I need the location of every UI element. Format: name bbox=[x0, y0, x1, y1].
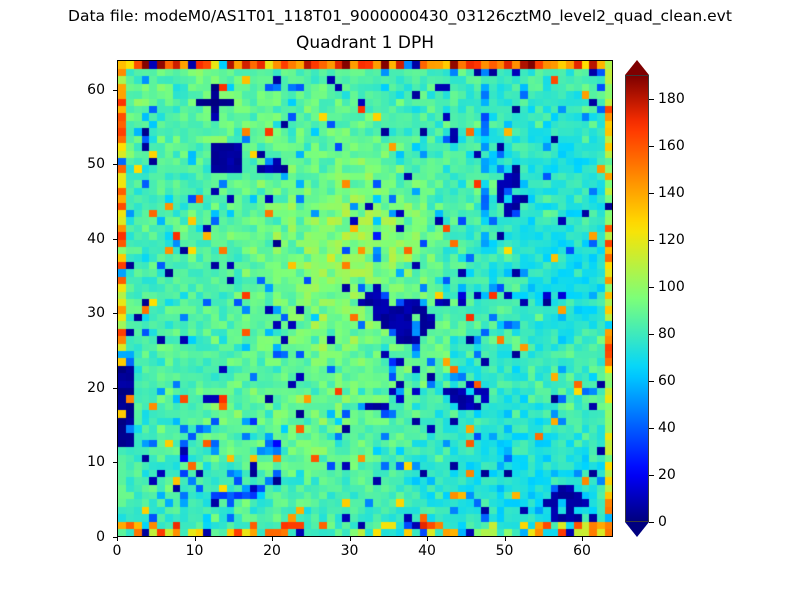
y-tick-mark bbox=[113, 462, 117, 463]
x-tick-label: 10 bbox=[175, 543, 215, 559]
x-tick-label: 60 bbox=[562, 543, 602, 559]
x-tick-mark bbox=[272, 537, 273, 541]
colorbar-tick-label: 40 bbox=[658, 420, 676, 436]
colorbar-tick-label: 80 bbox=[658, 326, 676, 342]
y-tick-mark bbox=[113, 313, 117, 314]
colorbar-tick-label: 20 bbox=[658, 467, 676, 483]
x-tick-label: 30 bbox=[330, 543, 370, 559]
y-tick-label: 40 bbox=[65, 231, 105, 247]
x-tick-label: 50 bbox=[485, 543, 525, 559]
colorbar-tick-mark bbox=[649, 522, 654, 523]
colorbar-tick-mark bbox=[649, 475, 654, 476]
colorbar-tick-label: 160 bbox=[658, 138, 685, 154]
x-tick-mark bbox=[505, 537, 506, 541]
colorbar: 020406080100120140160180 bbox=[625, 60, 649, 537]
colorbar-tick-label: 180 bbox=[658, 91, 685, 107]
colorbar-tick-mark bbox=[649, 193, 654, 194]
x-tick-mark bbox=[117, 537, 118, 541]
y-tick-label: 20 bbox=[65, 380, 105, 396]
page-title: Quadrant 1 DPH bbox=[117, 32, 613, 54]
y-tick-mark bbox=[113, 90, 117, 91]
figure-suptitle: Data file: modeM0/AS1T01_118T01_90000004… bbox=[0, 6, 800, 26]
y-tick-label: 60 bbox=[65, 82, 105, 98]
colorbar-tick-label: 120 bbox=[658, 232, 685, 248]
colorbar-tick-label: 100 bbox=[658, 279, 685, 295]
colorbar-tick-label: 0 bbox=[658, 514, 667, 530]
colorbar-extend-max-arrow-icon bbox=[625, 60, 649, 75]
colorbar-tick-mark bbox=[649, 334, 654, 335]
y-tick-mark bbox=[113, 388, 117, 389]
colorbar-extend-min-arrow-icon bbox=[625, 522, 649, 537]
colorbar-gradient bbox=[626, 76, 648, 521]
x-tick-mark bbox=[582, 537, 583, 541]
colorbar-tick-label: 140 bbox=[658, 185, 685, 201]
y-tick-mark bbox=[113, 537, 117, 538]
x-tick-label: 40 bbox=[407, 543, 447, 559]
colorbar-tick-mark bbox=[649, 240, 654, 241]
colorbar-tick-label: 60 bbox=[658, 373, 676, 389]
colorbar-tick-mark bbox=[649, 99, 654, 100]
colorbar-body bbox=[625, 75, 649, 522]
colorbar-tick-mark bbox=[649, 428, 654, 429]
y-tick-label: 30 bbox=[65, 305, 105, 321]
y-tick-label: 0 bbox=[65, 529, 105, 545]
x-tick-mark bbox=[195, 537, 196, 541]
y-tick-label: 50 bbox=[65, 156, 105, 172]
x-tick-mark bbox=[350, 537, 351, 541]
colorbar-tick-mark bbox=[649, 381, 654, 382]
heatmap-axes bbox=[117, 60, 613, 537]
colorbar-tick-mark bbox=[649, 287, 654, 288]
y-tick-mark bbox=[113, 239, 117, 240]
y-tick-mark bbox=[113, 164, 117, 165]
x-tick-label: 0 bbox=[97, 543, 137, 559]
x-tick-label: 20 bbox=[252, 543, 292, 559]
y-tick-label: 10 bbox=[65, 454, 105, 470]
heatmap-image bbox=[118, 61, 612, 536]
colorbar-tick-mark bbox=[649, 146, 654, 147]
x-tick-mark bbox=[427, 537, 428, 541]
